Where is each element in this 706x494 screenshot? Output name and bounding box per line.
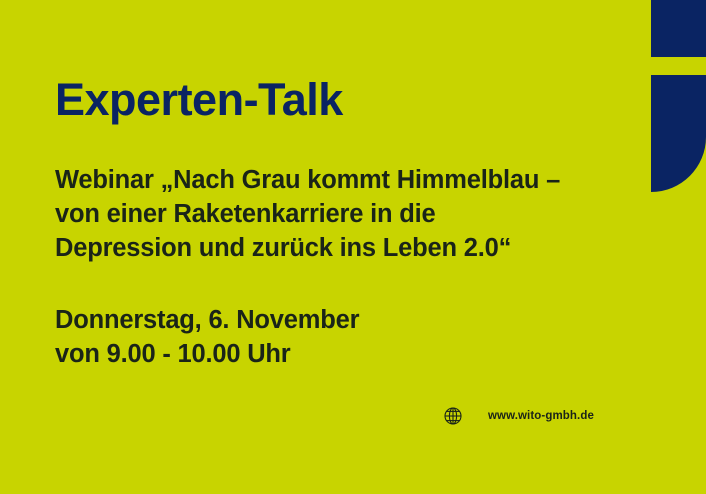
subtitle-line-1: Webinar „Nach Grau kommt Himmelblau – xyxy=(55,163,560,197)
poster-content: Experten-Talk Webinar „Nach Grau kommt H… xyxy=(55,0,706,494)
webinar-announcement-poster: Experten-Talk Webinar „Nach Grau kommt H… xyxy=(0,0,706,494)
footer-website: www.wito-gmbh.de xyxy=(443,406,594,426)
page-title: Experten-Talk xyxy=(55,76,343,123)
event-time: von 9.00 - 10.00 Uhr xyxy=(55,337,359,371)
website-url[interactable]: www.wito-gmbh.de xyxy=(488,410,594,422)
webinar-subtitle: Webinar „Nach Grau kommt Himmelblau – vo… xyxy=(55,163,560,265)
subtitle-line-3: Depression und zurück ins Leben 2.0“ xyxy=(55,231,560,265)
event-datetime: Donnerstag, 6. November von 9.00 - 10.00… xyxy=(55,303,359,371)
event-date: Donnerstag, 6. November xyxy=(55,303,359,337)
globe-icon xyxy=(443,406,463,426)
subtitle-line-2: von einer Raketenkarriere in die xyxy=(55,197,560,231)
